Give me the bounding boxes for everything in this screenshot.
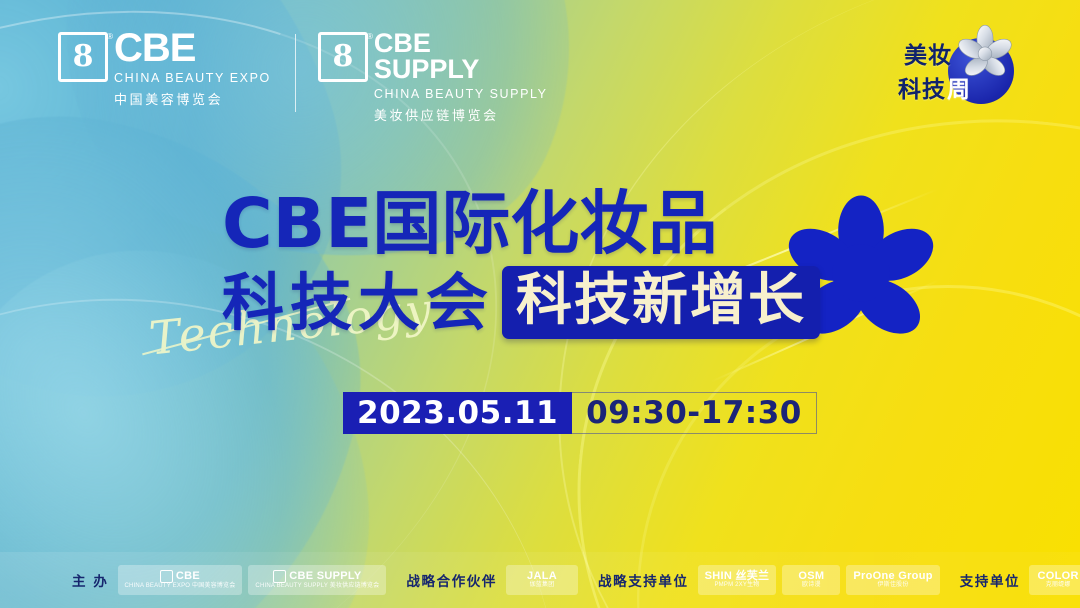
sponsor-bar: 主 办 CBE CHINA BEAUTY EXPO 中国美容博览会 CBE SU… [0,552,1080,608]
beauty-tech-week-badge: 美妆 科技周 [898,28,1018,114]
cbe-logo-name: CBE [114,30,271,67]
sponsor-group-label: 战略合作伙伴 [406,570,497,590]
badge-week-char: 周 [947,77,971,103]
cbe-supply-logo-mark-icon: 8 ® [318,32,368,82]
sponsor-logo[interactable]: COLOR 克丽缇娜 [1029,565,1080,595]
sponsor-group-label: 战略支持单位 [598,570,689,590]
cbe-supply-logo-name2: SUPPLY [374,56,548,82]
sponsor-logo[interactable]: OSM 欧诗漫 [782,565,840,595]
badge-line1: 美妆 [904,36,952,70]
title-line1: CBE国际化妆品 [222,190,942,259]
sponsor-logo-sub: CHINA BEAUTY EXPO 中国美容博览会 [125,583,236,590]
sponsor-logo-sub: 欧诗漫 [802,582,821,589]
sponsor-logo[interactable]: SHIN 丝芙兰 PMPM 2XY生物 [698,565,777,595]
page-title: CBE国际化妆品 科技大会 科技新增长 [222,190,942,339]
sponsor-logo-name: COLOR [1038,571,1079,583]
event-time: 09:30-17:30 [572,392,817,434]
sponsor-group-support: 支持单位 COLOR 克丽缇娜 美中生物 Cargill symrise [960,565,1080,595]
sponsor-logo[interactable]: CBE SUPPLY CHINA BEAUTY SUPPLY 美妆供应链博览会 [248,565,386,595]
conference-poster: 8 ® CBE CHINA BEAUTY EXPO 中国美容博览会 8 ® CB… [0,0,1080,608]
event-date: 2023.05.11 [343,392,572,434]
cbe-supply-logo-chinese: 美妆供应链博览会 [374,105,548,124]
cbe-logo-english: CHINA BEAUTY EXPO [114,71,271,85]
cbe-supply-logo-name: CBE [374,30,548,56]
sponsor-group-label: 主 办 [72,570,109,590]
sponsor-logo-sub: CHINA BEAUTY SUPPLY 美妆供应链博览会 [255,583,379,590]
sponsor-logo-sub: 克丽缇娜 [1046,582,1071,589]
sponsor-logo-sub: PMPM 2XY生物 [714,582,759,589]
sponsor-logo-name: OSM [798,571,824,583]
sponsor-group-strategic-support: 战略支持单位 SHIN 丝芙兰 PMPM 2XY生物 OSM 欧诗漫 ProOn… [598,565,946,595]
registered-icon: ® [107,32,113,41]
sponsor-logo-name: JALA [527,571,557,583]
badge-line2-text: 科技 [898,77,946,103]
logo-cbe-supply: 8 ® CBE SUPPLY CHINA BEAUTY SUPPLY 美妆供应链… [318,30,548,124]
sponsor-logo-name: ProOne Group [853,571,932,583]
registered-icon: ® [367,32,373,41]
sponsor-logo[interactable]: CBE CHINA BEAUTY EXPO 中国美容博览会 [118,565,243,595]
cbe-mark-glyph: 8 [73,42,94,72]
event-datetime: 2023.05.11 09:30-17:30 [343,392,817,434]
sponsor-logo[interactable]: ProOne Group 伊斯佳股份 [846,565,939,595]
cbe-supply-mini-mark-icon [273,570,286,583]
header-logos: 8 ® CBE CHINA BEAUTY EXPO 中国美容博览会 8 ® CB… [58,30,548,124]
sponsor-logo[interactable]: JALA 伽蓝集团 [506,565,578,595]
badge-line2: 科技周 [898,70,971,104]
cbe-logo-mark-icon: 8 ® [58,32,108,82]
cbe-supply-mark-glyph: 8 [332,42,353,72]
cbe-logo-chinese: 中国美容博览会 [114,89,271,108]
sponsor-logo-sub: 伊斯佳股份 [878,582,909,589]
title-line2: 科技大会 科技新增长 [222,266,942,339]
cbe-supply-logo-english: CHINA BEAUTY SUPPLY [374,87,548,101]
logo-divider [295,34,296,112]
sponsor-group-organizer: 主 办 CBE CHINA BEAUTY EXPO 中国美容博览会 CBE SU… [72,565,392,595]
sponsor-group-label: 支持单位 [960,570,1020,590]
title-line2-main: 科技大会 [222,272,494,334]
logo-cbe: 8 ® CBE CHINA BEAUTY EXPO 中国美容博览会 [58,30,271,108]
sponsor-logo-name: CBE [176,571,200,583]
cbe-mini-mark-icon [160,570,173,583]
sponsor-group-strategic-partner: 战略合作伙伴 JALA 伽蓝集团 [406,565,584,595]
sponsor-logo-sub: 伽蓝集团 [530,582,555,589]
sponsor-logo-name: CBE SUPPLY [289,571,361,583]
title-highlight-badge: 科技新增长 [502,266,820,339]
sponsor-logo-name: SHIN 丝芙兰 [705,571,770,583]
